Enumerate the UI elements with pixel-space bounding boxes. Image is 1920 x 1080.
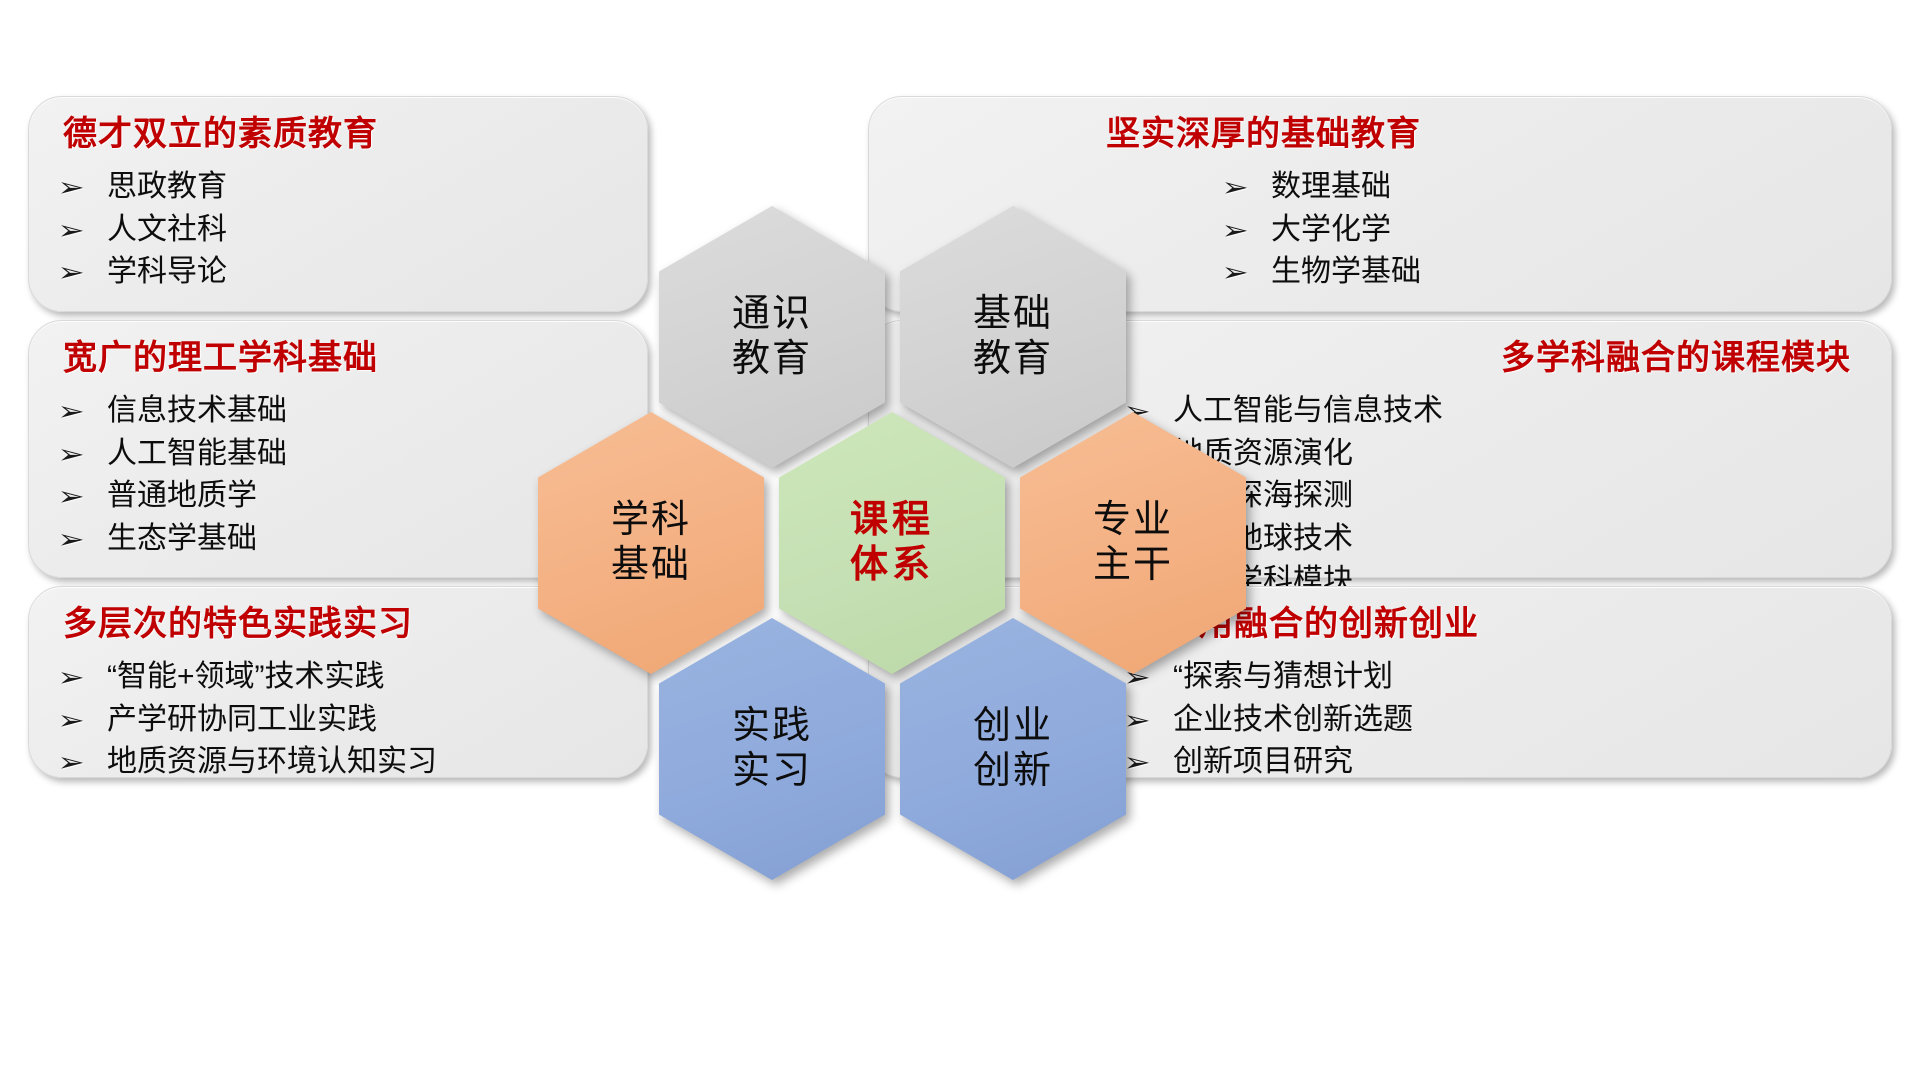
- list-item-label: 人工智能与信息技术: [1173, 390, 1443, 433]
- list-item-label: 信息技术基础: [107, 390, 287, 433]
- list-item: ➢ 数理基础: [1227, 166, 1421, 209]
- list-item-label: 产学研协同工业实践: [107, 699, 377, 742]
- list-item: ➢ 生物学基础: [1227, 251, 1421, 294]
- list-item: ➢ 生态学基础: [63, 518, 621, 561]
- list-item: ➢ 人工智能基础: [63, 433, 621, 476]
- hexagon-label-line1: 创业: [973, 704, 1053, 749]
- panel-title-practice-internship: 多层次的特色实践实习: [63, 605, 621, 644]
- hexagon-label-line2: 教育: [732, 337, 812, 382]
- hexagon-label-line1: 课程: [850, 498, 934, 543]
- hexagon-label-line1: 专业: [1093, 498, 1173, 543]
- arrow-bullet-icon: ➢: [1222, 213, 1277, 250]
- arrow-bullet-icon: ➢: [58, 255, 113, 292]
- hexagon-label-line2: 创新: [973, 749, 1053, 794]
- hexagon-label-line2: 基础: [611, 543, 691, 588]
- list-item: ➢ “智能+领域”技术实践: [63, 656, 621, 699]
- arrow-bullet-icon: ➢: [58, 703, 113, 740]
- arrow-bullet-icon: ➢: [58, 479, 113, 516]
- hexagon-practice-internship[interactable]: 实践 实习: [659, 618, 885, 880]
- panel-title-foundation-education: 坚实深厚的基础教育: [1106, 115, 1421, 154]
- list-item: ➢ 大学化学: [1227, 209, 1421, 252]
- list-item-label: 地质资源与环境认知实习: [107, 741, 437, 784]
- bullet-list-quality-education: ➢ 思政教育 ➢ 人文社科 ➢ 学科导论: [63, 166, 621, 294]
- list-item-label: 生物学基础: [1271, 251, 1421, 294]
- list-item-label: 大学化学: [1271, 209, 1391, 252]
- arrow-bullet-icon: ➢: [58, 522, 113, 559]
- arrow-bullet-icon: ➢: [58, 394, 113, 431]
- panel-quality-education: 德才双立的素质教育 ➢ 思政教育 ➢ 人文社科 ➢ 学科导论: [28, 96, 648, 312]
- bullet-list-practice-internship: ➢ “智能+领域”技术实践 ➢ 产学研协同工业实践 ➢ 地质资源与环境认知实习: [63, 656, 621, 784]
- list-item: ➢ 创新项目研究: [1129, 741, 1413, 784]
- arrow-bullet-icon: ➢: [1222, 170, 1277, 207]
- arrow-bullet-icon: ➢: [1124, 745, 1179, 782]
- list-item: ➢ 人工智能与信息技术: [1129, 390, 1443, 433]
- list-item-label: 企业技术创新选题: [1173, 699, 1413, 742]
- list-item-label: 人文社科: [107, 209, 227, 252]
- hexagon-label-line2: 体系: [850, 543, 934, 588]
- arrow-bullet-icon: ➢: [58, 745, 113, 782]
- list-item-label: 创新项目研究: [1173, 741, 1353, 784]
- panel-title-science-engineering-base: 宽广的理工学科基础: [63, 339, 621, 378]
- arrow-bullet-icon: ➢: [58, 170, 113, 207]
- hexagon-label-line1: 通识: [732, 292, 812, 337]
- hexagon-label-line2: 实习: [732, 749, 812, 794]
- arrow-bullet-icon: ➢: [1124, 703, 1179, 740]
- hexagon-general-education[interactable]: 通识 教育: [659, 206, 885, 468]
- arrow-bullet-icon: ➢: [58, 213, 113, 250]
- list-item: ➢ 信息技术基础: [63, 390, 621, 433]
- list-item-label: 生态学基础: [107, 518, 257, 561]
- panel-title-quality-education: 德才双立的素质教育: [63, 115, 621, 154]
- list-item: ➢ “探索与猜想计划: [1129, 656, 1413, 699]
- arrow-bullet-icon: ➢: [58, 437, 113, 474]
- list-item: ➢ 学科导论: [63, 251, 621, 294]
- bullet-list-science-engineering-base: ➢ 信息技术基础 ➢ 人工智能基础 ➢ 普通地质学 ➢ 生态学基础: [63, 390, 621, 560]
- list-item: ➢ 人文社科: [63, 209, 621, 252]
- list-item-label: 思政教育: [107, 166, 227, 209]
- hexagon-label-line1: 学科: [611, 498, 691, 543]
- list-item-label: 人工智能基础: [107, 433, 287, 476]
- bullet-list-foundation-education: ➢ 数理基础 ➢ 大学化学 ➢ 生物学基础: [1227, 166, 1421, 294]
- hexagon-label-line1: 实践: [732, 704, 812, 749]
- list-item: ➢ 普通地质学: [63, 475, 621, 518]
- arrow-bullet-icon: ➢: [1222, 255, 1277, 292]
- panel-title-interdisciplinary-modules: 多学科融合的课程模块: [1501, 339, 1851, 378]
- list-item: ➢ 产学研协同工业实践: [63, 699, 621, 742]
- bullet-list-innovation-entrepreneurship: ➢ “探索与猜想计划 ➢ 企业技术创新选题 ➢ 创新项目研究: [1129, 656, 1413, 784]
- list-item-label: 普通地质学: [107, 475, 257, 518]
- hexagon-label-line2: 主干: [1093, 543, 1173, 588]
- list-item-label: 学科导论: [107, 251, 227, 294]
- arrow-bullet-icon: ➢: [58, 660, 113, 697]
- list-item-label: “智能+领域”技术实践: [107, 656, 385, 699]
- list-item-label: “探索与猜想计划: [1173, 656, 1393, 699]
- list-item: ➢ 企业技术创新选题: [1129, 699, 1413, 742]
- list-item-label: 数理基础: [1271, 166, 1391, 209]
- list-item: ➢ 思政教育: [63, 166, 621, 209]
- course-system-diagram: 德才双立的素质教育 ➢ 思政教育 ➢ 人文社科 ➢ 学科导论 坚实深厚的基础教育…: [0, 0, 1920, 1080]
- hexagon-label-line1: 基础: [973, 292, 1053, 337]
- list-item: ➢ 地质资源与环境认知实习: [63, 741, 621, 784]
- hexagon-label-line2: 教育: [973, 337, 1053, 382]
